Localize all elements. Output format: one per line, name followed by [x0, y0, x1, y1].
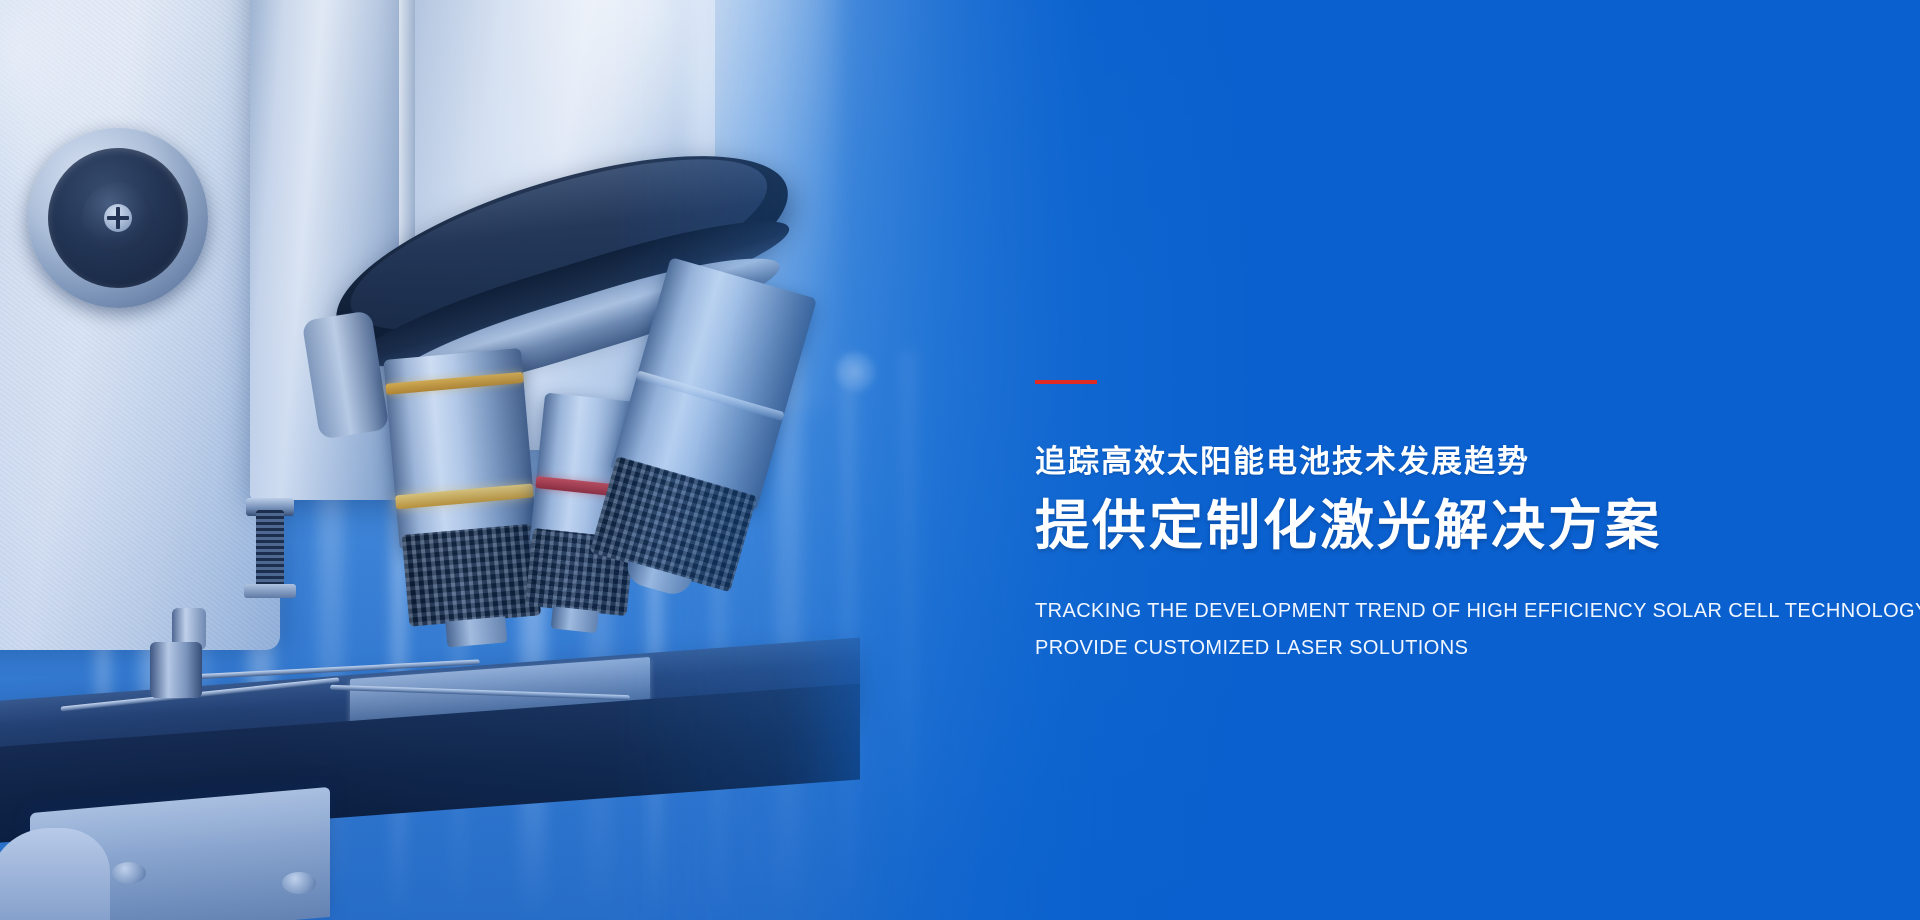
hero-subtitle-line-1: TRACKING THE DEVELOPMENT TREND OF HIGH E… [1035, 593, 1855, 630]
accent-rule [1035, 380, 1097, 384]
hero-text-block: 追踪高效太阳能电池技术发展趋势 提供定制化激光解决方案 TRACKING THE… [1035, 380, 1855, 667]
hero-subtitle-line-2: PROVIDE CUSTOMIZED LASER SOLUTIONS [1035, 630, 1855, 667]
hero-kicker: 追踪高效太阳能电池技术发展趋势 [1035, 446, 1855, 477]
hero-banner: 追踪高效太阳能电池技术发展趋势 提供定制化激光解决方案 TRACKING THE… [0, 0, 1920, 920]
hero-headline: 提供定制化激光解决方案 [1035, 499, 1855, 553]
